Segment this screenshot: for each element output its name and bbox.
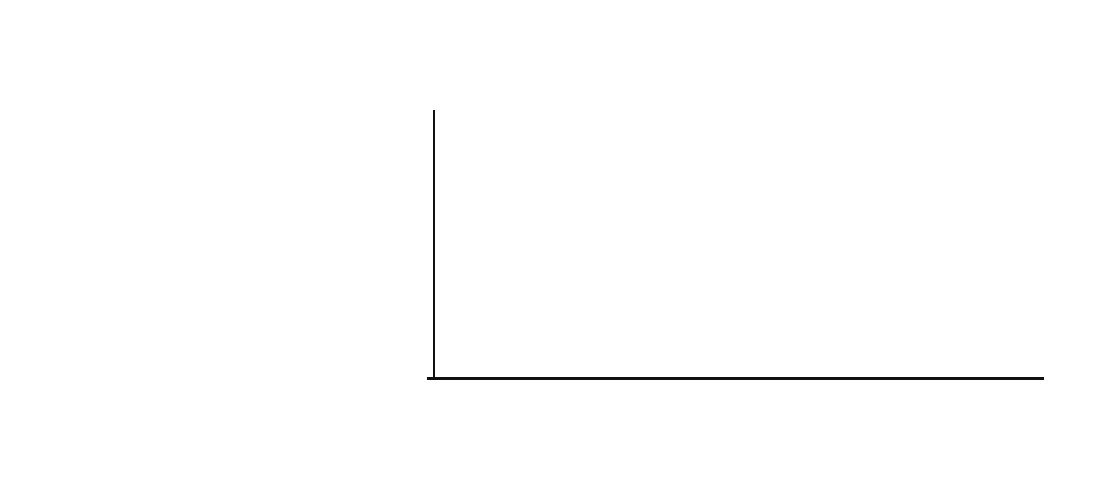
chart-screenshot: [0, 0, 1103, 478]
plot-area: [433, 110, 1043, 377]
x-axis-line: [427, 377, 1044, 380]
